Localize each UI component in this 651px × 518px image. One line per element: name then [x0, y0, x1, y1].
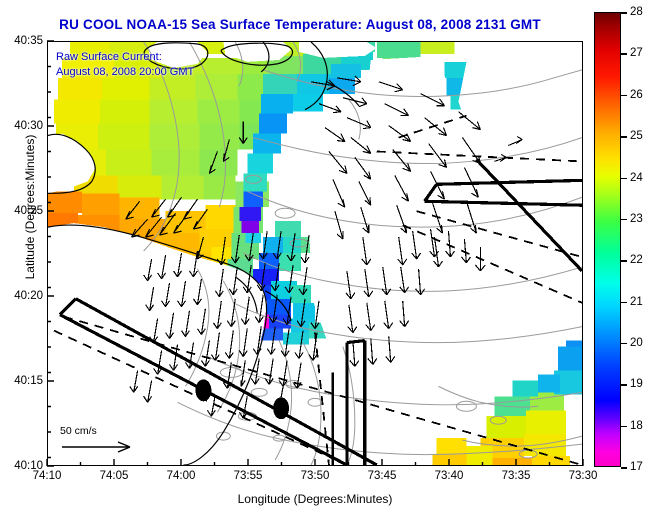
colorbar-tick-22	[621, 260, 627, 262]
xtick-4: 73:50	[301, 470, 330, 482]
colorbar-tick-17	[621, 467, 627, 469]
colorbar-label-24: 24	[630, 172, 643, 184]
colorbar-tick-26	[621, 95, 627, 97]
colorbar-label-27: 27	[630, 47, 643, 59]
x-axis-label: Longitude (Degrees:Minutes)	[47, 492, 583, 506]
colorbar-label-20: 20	[630, 337, 643, 349]
annotation-line-1: Raw Surface Current:	[56, 50, 194, 65]
colorbar[interactable]: 28 27 26 25 24 23 22 21 20 19 18 17	[594, 12, 621, 467]
vector-scale-bar: 50 cm/s	[60, 425, 140, 455]
colorbar-label-23: 23	[630, 213, 643, 225]
xtick-6: 73:40	[435, 470, 464, 482]
colorbar-label-28: 28	[630, 6, 643, 18]
raw-current-annotation: Raw Surface Current: August 08, 2008 20:…	[56, 50, 194, 80]
colorbar-label-21: 21	[630, 296, 643, 308]
colorbar-tick-20	[621, 343, 627, 345]
colorbar-label-26: 26	[630, 89, 643, 101]
colorbar-label-25: 25	[630, 130, 643, 142]
annotation-line-2: August 08, 2008 20:00 GMT	[56, 65, 194, 80]
ytick-5: 40:10	[0, 460, 43, 472]
map-plot-area[interactable]: Raw Surface Current: August 08, 2008 20:…	[47, 41, 583, 466]
xtick-1: 74:05	[100, 470, 129, 482]
colorbar-label-22: 22	[630, 254, 643, 266]
colorbar-tick-23	[621, 219, 627, 221]
sst-map-layer	[48, 42, 582, 465]
colorbar-label-17: 17	[630, 461, 643, 473]
colorbar-label-18: 18	[630, 420, 643, 432]
scale-bar-arrow-icon	[60, 439, 140, 455]
figure-canvas: RU COOL NOAA-15 Sea Surface Temperature:…	[0, 0, 651, 518]
y-axis-label: Latitude (Degrees:Minutes)	[23, 107, 37, 307]
colorbar-label-19: 19	[630, 378, 643, 390]
colorbar-tick-27	[621, 53, 627, 55]
scale-bar-label: 50 cm/s	[60, 425, 140, 437]
colorbar-tick-25	[621, 136, 627, 138]
colorbar-tick-18	[621, 426, 627, 428]
colorbar-gradient	[594, 12, 621, 467]
page-title: RU COOL NOAA-15 Sea Surface Temperature:…	[0, 17, 600, 32]
ytick-4: 40:15	[0, 375, 43, 387]
xtick-7: 73:35	[502, 470, 531, 482]
colorbar-tick-28	[621, 12, 627, 14]
xtick-2: 74:00	[167, 470, 196, 482]
colorbar-tick-24	[621, 178, 627, 180]
ytick-0: 40:35	[0, 35, 43, 47]
colorbar-tick-21	[621, 302, 627, 304]
xtick-3: 73:55	[234, 470, 263, 482]
xtick-5: 73:45	[368, 470, 397, 482]
xtick-8: 73:30	[569, 470, 598, 482]
colorbar-tick-19	[621, 384, 627, 386]
